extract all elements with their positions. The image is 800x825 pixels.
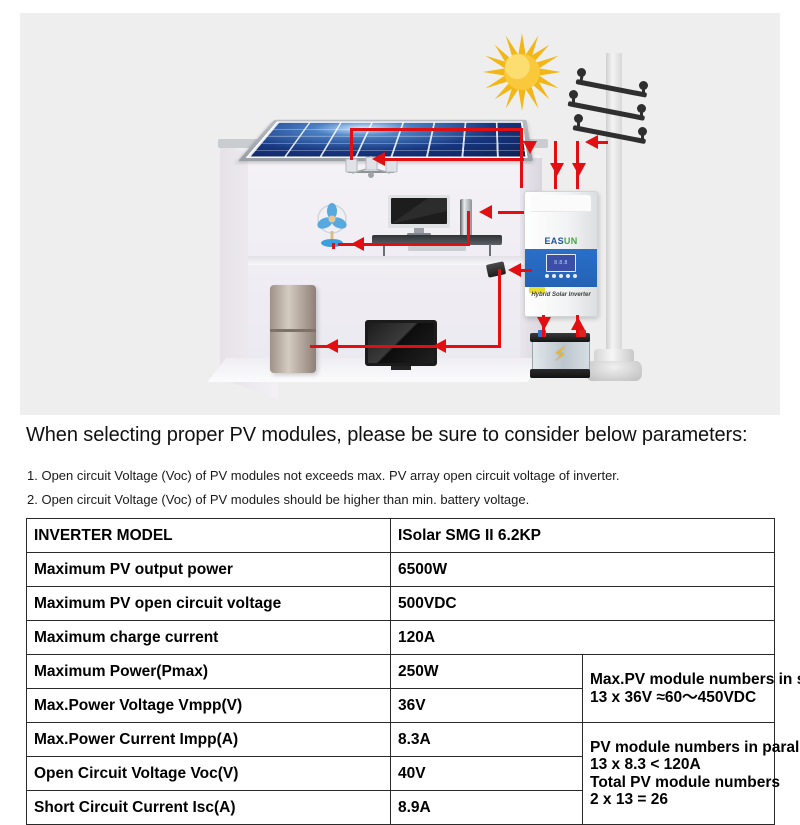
wire-ceiling-feed	[384, 158, 524, 161]
system-diagram-illustration: EASUN 8.8.8 Hybrid Solar Inverter ⚡	[20, 13, 780, 415]
brand-text: EAS	[544, 236, 563, 246]
row-value-maximum-power-pmax: 250W	[391, 655, 583, 689]
note-parallel-line3: Total PV module numbers	[590, 774, 767, 791]
row-value-max-power-current-impp: 8.3A	[391, 723, 583, 757]
row-value-open-circuit-voltage-voc: 40V	[391, 757, 583, 791]
row-label-maximum-power-pmax: Maximum Power(Pmax)	[27, 655, 391, 689]
row-label-max-pv-open-circuit-voltage: Maximum PV open circuit voltage	[27, 587, 391, 621]
arrow-down-battery	[537, 317, 551, 330]
note-cell-series: Max.PV module numbers in senes 13 x 36V …	[583, 655, 775, 723]
row-label-max-power-voltage-vmpp: Max.Power Voltage Vmpp(V)	[27, 689, 391, 723]
wire-upper-branch	[498, 211, 524, 214]
note-cell-parallel: PV module numbers in parallel 13 x 8.3 <…	[583, 723, 775, 825]
arrow-down-inverter-c	[572, 163, 586, 176]
row-value-max-pv-open-circuit-voltage: 500VDC	[391, 587, 775, 621]
wire-upper-down	[467, 211, 470, 245]
row-value-max-power-voltage-vmpp: 36V	[391, 689, 583, 723]
arrow-up-battery	[571, 317, 585, 330]
note-parallel-line2: 13 x 8.3 < 120A	[590, 756, 767, 773]
brand-accent-text: UN	[564, 236, 578, 246]
inverter-spec-table: INVERTER MODEL ISolar SMG II 6.2KP Maxim…	[26, 518, 775, 825]
inverter-lcd-text: 8.8.8	[547, 255, 575, 271]
arrow-down-inverter-a	[523, 141, 537, 154]
row-label-max-charge-current: Maximum charge current	[27, 621, 391, 655]
row-label-short-circuit-current-isc: Short Circuit Current Isc(A)	[27, 791, 391, 825]
inverter-lcd-screen: 8.8.8	[546, 254, 576, 272]
inverter-top-vent	[531, 195, 591, 212]
hybrid-inverter-device: EASUN 8.8.8 Hybrid Solar Inverter	[524, 191, 598, 317]
desktop-monitor-icon	[388, 195, 450, 237]
insulator-icon	[577, 68, 586, 77]
wire-socket-feed	[520, 269, 532, 272]
wire-grid-stub	[598, 141, 608, 144]
row-label-inverter-model: INVERTER MODEL	[27, 519, 391, 553]
note-item-2: 2. Open circuit Voltage (Voc) of PV modu…	[27, 492, 529, 507]
wire-grid-down2	[554, 141, 557, 189]
utility-pole-base	[586, 361, 642, 381]
inverter-brand-logo: EASUN	[525, 236, 597, 246]
arrow-down-inverter-b	[550, 163, 564, 176]
wire-roof-horizontal	[350, 128, 522, 131]
arrow-left-fan	[351, 237, 364, 251]
refrigerator-icon	[270, 285, 316, 373]
table-row: Maximum PV output power 6500W	[27, 553, 775, 587]
page-root: EASUN 8.8.8 Hybrid Solar Inverter ⚡	[0, 0, 800, 800]
lead-paragraph: When selecting proper PV modules, please…	[26, 424, 774, 447]
row-value-max-pv-output-power: 6500W	[391, 553, 775, 587]
solar-panel-icon	[238, 86, 533, 161]
insulator-icon	[574, 114, 583, 123]
row-label-open-circuit-voltage-voc: Open Circuit Voltage Voc(V)	[27, 757, 391, 791]
inverter-led-row	[545, 274, 577, 278]
note-item-1: 1. Open circuit Voltage (Voc) of PV modu…	[27, 468, 620, 483]
table-row: Maximum charge current 120A	[27, 621, 775, 655]
flat-tv-icon	[365, 320, 437, 366]
table-row: Maximum PV open circuit voltage 500VDC	[27, 587, 775, 621]
arrow-left-upper	[479, 205, 492, 219]
wire-fan-feed	[332, 243, 335, 249]
table-row: Max.Power Current Impp(A) 8.3A PV module…	[27, 723, 775, 757]
insulator-icon	[638, 127, 647, 136]
note-series-line1: Max.PV module numbers in senes	[590, 671, 767, 688]
wire-ground-run2	[310, 345, 370, 348]
table-row: Maximum Power(Pmax) 250W Max.PV module n…	[27, 655, 775, 689]
arrow-left-ground-b	[325, 339, 338, 353]
note-series-line2: 13 x 36V ≈60〜450VDC	[590, 689, 767, 706]
table-row: INVERTER MODEL ISolar SMG II 6.2KP	[27, 519, 775, 553]
row-value-inverter-model: ISolar SMG II 6.2KP	[391, 519, 775, 553]
row-label-max-power-current-impp: Max.Power Current Impp(A)	[27, 723, 391, 757]
wire-socket-down	[498, 269, 501, 347]
arrow-left-ground-a	[433, 339, 446, 353]
row-value-short-circuit-current-isc: 8.9A	[391, 791, 583, 825]
inverter-model-label: Hybrid Solar Inverter	[525, 292, 597, 298]
row-value-max-charge-current: 120A	[391, 621, 775, 655]
utility-pole-icon	[606, 53, 622, 373]
insulator-icon	[637, 104, 646, 113]
insulator-icon	[639, 81, 648, 90]
insulator-icon	[569, 90, 578, 99]
note-parallel-line1: PV module numbers in parallel	[590, 739, 767, 756]
wire-roof-drop	[350, 128, 353, 160]
battery-icon: ⚡	[532, 331, 588, 379]
row-label-max-pv-output-power: Maximum PV output power	[27, 553, 391, 587]
arrow-left-grid	[585, 135, 598, 149]
wire-grid-down	[576, 141, 579, 189]
